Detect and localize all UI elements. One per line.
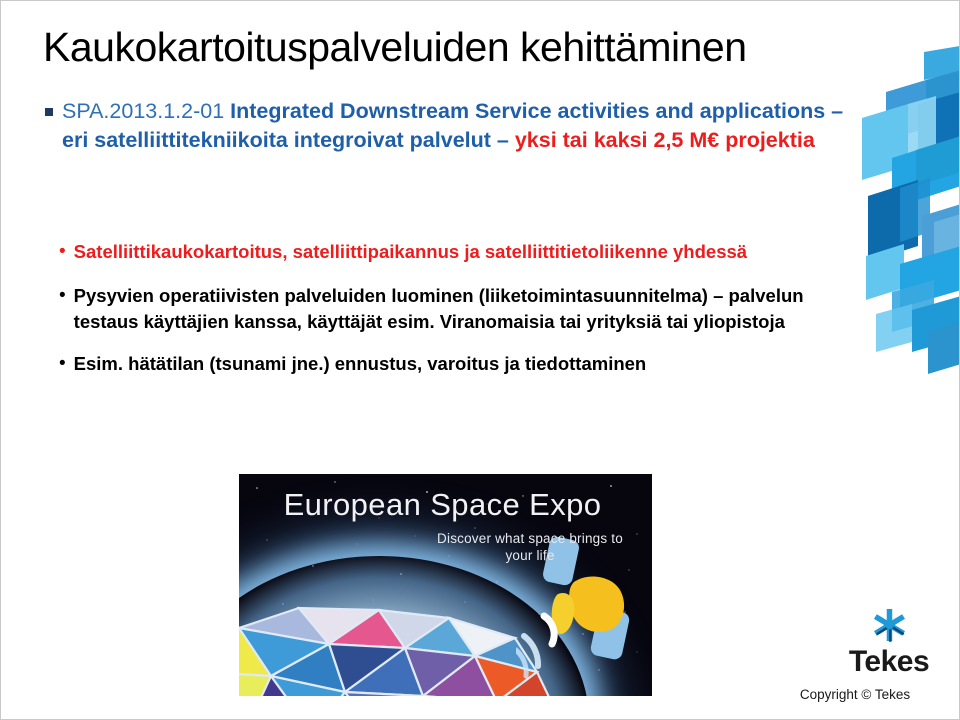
round-bullet-icon: • <box>59 239 66 265</box>
snowflake-asterisk-icon <box>866 607 913 643</box>
expo-title: European Space Expo <box>239 488 646 522</box>
round-bullet-icon: • <box>59 351 66 377</box>
page-title: Kaukokartoituspalveluiden kehittäminen <box>43 23 843 71</box>
level2-bullet-text: Esim. hätätilan (tsunami jne.) ennustus,… <box>74 351 647 377</box>
level2-bullet-text: Pysyvien operatiivisten palveluiden luom… <box>74 283 819 335</box>
european-space-expo-image: European Space Expo Discover what space … <box>239 474 652 696</box>
project-code: SPA.2013.1.2-01 <box>62 99 224 123</box>
decoration-svg <box>856 46 960 376</box>
list-item: • Pysyvien operatiivisten palveluiden lu… <box>59 283 819 335</box>
expo-subtitle: Discover what space brings to your life <box>430 530 630 564</box>
level1-bullet-block: SPA.2013.1.2-01 Integrated Downstream Se… <box>45 97 863 154</box>
copyright-text: Copyright © Tekes <box>761 687 949 702</box>
slide-canvas: Kaukokartoituspalveluiden kehittäminen S… <box>0 0 960 720</box>
level2-bullet-text: Satelliittikaukokartoitus, satelliittipa… <box>74 239 747 265</box>
level1-bullet-item: SPA.2013.1.2-01 Integrated Downstream Se… <box>45 97 863 154</box>
tekes-logo: Tekes <box>829 607 949 678</box>
list-item: • Esim. hätätilan (tsunami jne.) ennustu… <box>59 351 859 377</box>
round-bullet-icon: • <box>59 283 66 309</box>
level1-bullet-text: SPA.2013.1.2-01 Integrated Downstream Se… <box>62 97 863 154</box>
level2-bullet-block: • Satelliittikaukokartoitus, satelliitti… <box>59 239 859 391</box>
tekes-wordmark: Tekes <box>829 646 949 678</box>
level1-red-text: yksi tai kaksi 2,5 M€ projektia <box>515 128 815 152</box>
list-item: • Satelliittikaukokartoitus, satelliitti… <box>59 239 859 265</box>
square-bullet-icon <box>45 108 53 116</box>
blue-parallelogram-decoration <box>856 46 960 376</box>
